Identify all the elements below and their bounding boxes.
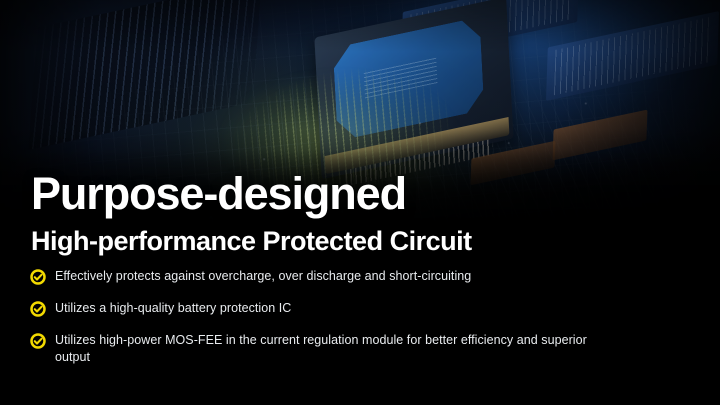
list-item-label: Effectively protects against overcharge,… (55, 268, 471, 285)
list-item-label: Utilizes a high-quality battery protecti… (55, 300, 291, 317)
feature-list: Effectively protects against overcharge,… (30, 268, 590, 365)
page-title: Purpose-designed (31, 171, 406, 216)
list-item: Utilizes a high-quality battery protecti… (30, 300, 590, 317)
slide-content: Purpose-designed High-performance Protec… (0, 0, 720, 405)
list-item-label: Utilizes high-power MOS-FEE in the curre… (55, 332, 590, 365)
list-item: Utilizes high-power MOS-FEE in the curre… (30, 332, 590, 365)
check-circle-icon (30, 301, 46, 317)
page-subtitle: High-performance Protected Circuit (31, 228, 472, 255)
list-item: Effectively protects against overcharge,… (30, 268, 590, 285)
check-circle-icon (30, 269, 46, 285)
slide-root: Purpose-designed High-performance Protec… (0, 0, 720, 405)
check-circle-icon (30, 333, 46, 349)
